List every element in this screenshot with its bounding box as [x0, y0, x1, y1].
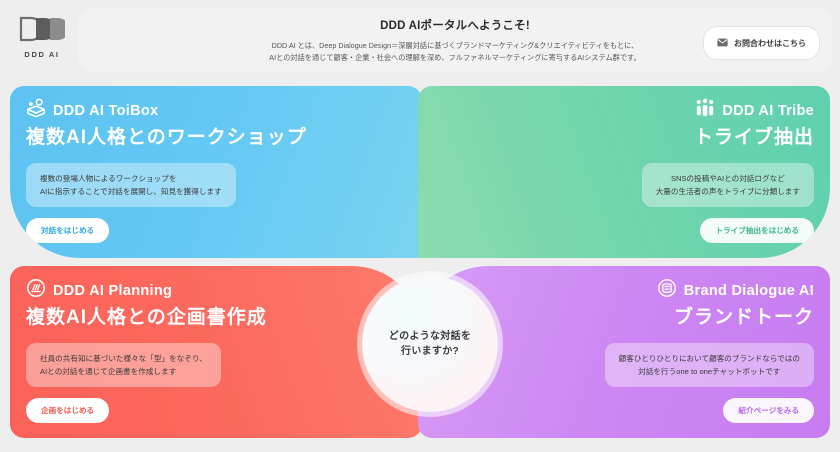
center-prompt-line1: どのような対話を — [389, 329, 471, 345]
mail-icon — [717, 34, 728, 52]
portal-page: DDD AI DDD AIポータルへようこそ! DDD AI とは、Deep D… — [0, 0, 840, 452]
contact-button-label: お問合わせはこちら — [734, 38, 806, 49]
ddd-ai-logo[interactable]: DDD AI — [14, 16, 70, 59]
toibox-desc-line1: 複数の登場人物によるワークショップを — [40, 172, 222, 185]
tribe-brand-name: DDD AI Tribe — [722, 103, 814, 119]
brand-dialogue-brand-name: Brand Dialogue AI — [684, 283, 814, 299]
tribe-description: SNSの投稿やAIとの対話ログなど 大量の生活者の声をトライブに分類します — [642, 163, 814, 208]
footer-strip — [0, 438, 840, 452]
toibox-desc-line2: AIに指示することで対話を展開し、知見を獲得します — [40, 185, 222, 198]
center-prompt-line2: 行いますか? — [389, 344, 471, 360]
logo-wordmark: DDD AI — [24, 50, 59, 59]
center-prompt-circle: どのような対話を 行いますか? — [362, 276, 498, 412]
toibox-brand-row: DDD AI ToiBox — [26, 98, 406, 123]
toibox-description: 複数の登場人物によるワークショップを AIに指示することで対話を展開し、知見を獲… — [26, 163, 236, 208]
toibox-cta-button[interactable]: 対話をはじめる — [26, 218, 109, 243]
header-banner: DDD AIポータルへようこそ! DDD AI とは、Deep Dialogue… — [78, 8, 832, 72]
planning-desc-line2: AIとの対話を通じて企画書を作成します — [40, 365, 207, 378]
planning-desc-line1: 社員の共有知に基づいた様々な「型」をなぞり、 — [40, 352, 207, 365]
tribe-brand-row: DDD AI Tribe — [434, 98, 814, 123]
tribe-cta-button[interactable]: トライブ抽出をはじめる — [700, 218, 814, 243]
brand-dialogue-description: 顧客ひとりひとりにおいて顧客のブランドならではの 対話を行うone to one… — [605, 343, 814, 388]
workshop-people-icon — [26, 98, 46, 123]
planning-description: 社員の共有知に基づいた様々な「型」をなぞり、 AIとの対話を通じて企画書を作成し… — [26, 343, 221, 388]
brand-dialogue-cta-button[interactable]: 紹介ページをみる — [723, 398, 814, 423]
people-group-icon — [695, 98, 715, 123]
toibox-brand-name: DDD AI ToiBox — [53, 103, 158, 119]
tribe-desc-line1: SNSの投稿やAIとの対話ログなど — [656, 172, 800, 185]
page-header: DDD AI DDD AIポータルへようこそ! DDD AI とは、Deep D… — [0, 0, 840, 82]
center-prompt-text: どのような対話を 行いますか? — [389, 329, 471, 360]
circle-slash-icon — [26, 278, 46, 303]
card-planning[interactable]: DDD AI Planning 複数AI人格との企画書作成 社員の共有知に基づい… — [10, 266, 422, 438]
service-card-grid: DDD AI ToiBox 複数AI人格とのワークショップ 複数の登場人物による… — [10, 86, 830, 438]
brand-dialogue-desc-line2: 対話を行うone to oneチャットボットです — [619, 365, 800, 378]
planning-cta-button[interactable]: 企画をはじめる — [26, 398, 109, 423]
contact-button[interactable]: お問合わせはこちら — [703, 26, 820, 60]
tribe-heading: トライブ抽出 — [434, 127, 814, 150]
brand-dialogue-brand-row: Brand Dialogue AI — [434, 278, 814, 303]
brand-dialogue-desc-line1: 顧客ひとりひとりにおいて顧客のブランドならではの — [619, 352, 800, 365]
planning-brand-name: DDD AI Planning — [53, 283, 172, 299]
toibox-heading: 複数AI人格とのワークショップ — [26, 127, 406, 150]
tribe-desc-line2: 大量の生活者の声をトライブに分類します — [656, 185, 800, 198]
card-tribe[interactable]: DDD AI Tribe トライブ抽出 SNSの投稿やAIとの対話ログなど 大量… — [418, 86, 830, 258]
brand-badge-icon — [657, 278, 677, 303]
card-toibox[interactable]: DDD AI ToiBox 複数AI人格とのワークショップ 複数の登場人物による… — [10, 86, 422, 258]
ddd-logo-mark — [19, 16, 65, 47]
planning-brand-row: DDD AI Planning — [26, 278, 406, 303]
planning-heading: 複数AI人格との企画書作成 — [26, 307, 406, 330]
